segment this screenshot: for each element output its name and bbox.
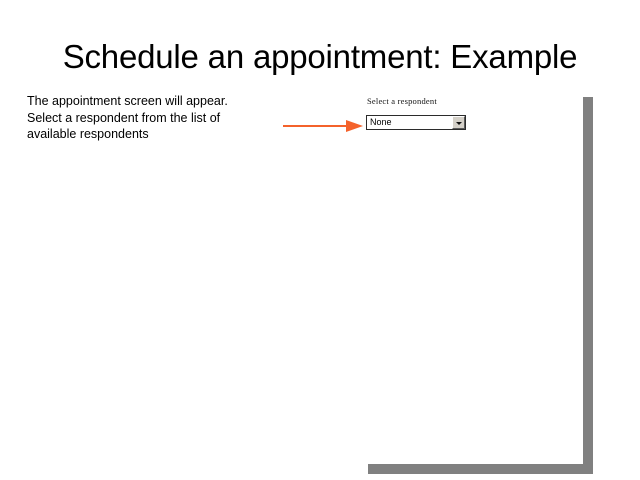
- frame-bottom-shadow-bar: [368, 464, 593, 474]
- caret-glyph: [456, 122, 462, 125]
- frame-right-shadow-bar: [583, 97, 593, 474]
- right-arrow-icon: [283, 117, 365, 135]
- page-title: Schedule an appointment: Example: [0, 38, 640, 76]
- slide-canvas: Schedule an appointment: Example The app…: [0, 0, 640, 480]
- appointment-form-capture: Select a respondent None: [366, 96, 466, 130]
- chevron-down-icon[interactable]: [452, 116, 465, 129]
- respondent-select-value: None: [367, 116, 452, 129]
- body-paragraph: The appointment screen will appear. Sele…: [27, 93, 255, 143]
- respondent-select-label: Select a respondent: [367, 96, 466, 106]
- respondent-select[interactable]: None: [366, 115, 466, 130]
